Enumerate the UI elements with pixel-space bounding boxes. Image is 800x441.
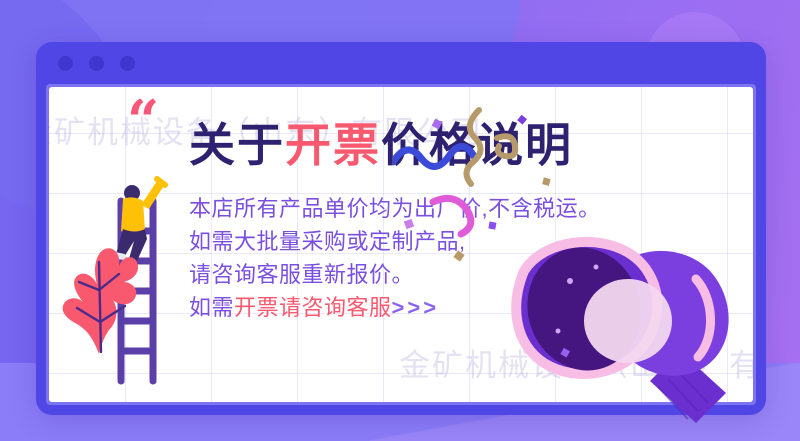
title-prefix: 关于 xyxy=(189,119,285,171)
cta-prefix: 如需 xyxy=(189,295,234,320)
leaf-icon xyxy=(53,226,141,356)
cta-highlight: 开票请咨询客服 xyxy=(234,295,392,320)
window-dot-3[interactable] xyxy=(120,56,135,71)
quote-open-mark: “ xyxy=(127,105,159,139)
cta-arrows-icon[interactable]: >>> xyxy=(392,295,440,320)
megaphone-icon xyxy=(500,171,800,441)
window-dot-1[interactable] xyxy=(58,56,73,71)
title-highlight: 开票 xyxy=(285,119,381,171)
window-dot-2[interactable] xyxy=(89,56,104,71)
window-titlebar xyxy=(36,42,766,84)
